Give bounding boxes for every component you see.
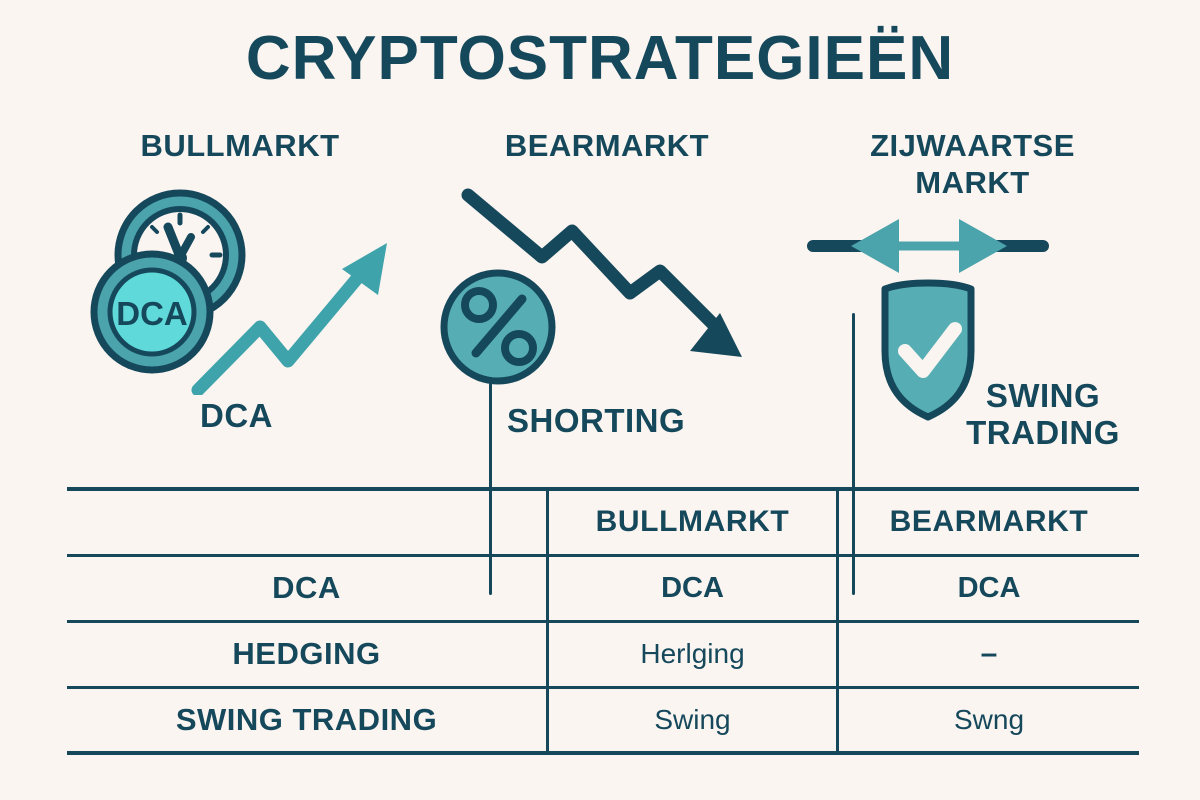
bearmarkt-icon-group	[432, 165, 782, 395]
dca-coin-text: DCA	[116, 295, 188, 332]
row-label-swing-trading: SWING TRADING	[67, 687, 548, 753]
cell-dca-bull: DCA	[548, 555, 838, 621]
column-heading-bearmarkt: BEARMARKT	[432, 128, 782, 165]
table-header-empty	[67, 489, 548, 555]
table-row: SWING TRADING Swing Swng	[67, 687, 1139, 753]
cell-dca-bear: DCA	[838, 555, 1140, 621]
column-heading-bullmarkt: BULLMARKT	[60, 128, 420, 165]
column-heading-zijwaartse-markt: ZIJWAARTSE MARKT	[795, 128, 1150, 201]
column-label-dca: DCA	[200, 398, 273, 435]
dca-coin-icon: DCA	[94, 254, 210, 370]
strategy-columns: BULLMARKT	[60, 128, 1150, 473]
table-header-bearmarkt: BEARMARKT	[838, 489, 1140, 555]
column-label-line-1: SWING	[943, 378, 1143, 415]
cell-swing-bull: Swing	[548, 687, 838, 753]
table-row: HEDGING Herlging –	[67, 621, 1139, 687]
double-headed-arrow-icon	[813, 219, 1043, 273]
column-label-shorting: SHORTING	[507, 403, 685, 440]
bullmarkt-artwork: DCA	[60, 165, 420, 395]
cell-hedging-bear: –	[838, 621, 1140, 687]
comparison-table: BULLMARKT BEARMARKT DCA DCA DCA HEDGING …	[67, 487, 1139, 755]
column-heading-line-1: ZIJWAARTSE	[795, 128, 1150, 165]
row-label-dca: DCA	[67, 555, 548, 621]
column-bullmarkt: BULLMARKT	[60, 128, 420, 473]
percent-circle-icon	[444, 273, 552, 381]
bearmarkt-artwork	[432, 165, 782, 395]
column-heading-line-2: MARKT	[795, 165, 1150, 202]
column-zijwaartse-markt: ZIJWAARTSE MARKT SWIN	[795, 128, 1150, 473]
column-label-swing-trading: SWING TRADING	[943, 378, 1143, 452]
row-label-hedging: HEDGING	[67, 621, 548, 687]
comparison-table-wrapper: BULLMARKT BEARMARKT DCA DCA DCA HEDGING …	[67, 487, 1133, 755]
column-label-line-2: TRADING	[943, 415, 1143, 452]
cell-hedging-bull: Herlging	[548, 621, 838, 687]
table-row: DCA DCA DCA	[67, 555, 1139, 621]
table-header-bullmarkt: BULLMARKT	[548, 489, 838, 555]
cell-swing-bear: Swng	[838, 687, 1140, 753]
table-header-row: BULLMARKT BEARMARKT	[67, 489, 1139, 555]
column-bearmarkt: BEARMARKT SHORTING	[432, 128, 782, 473]
bullmarkt-icon-group: DCA	[60, 165, 420, 395]
page-title: CRYPTOSTRATEGIEËN	[0, 26, 1200, 91]
